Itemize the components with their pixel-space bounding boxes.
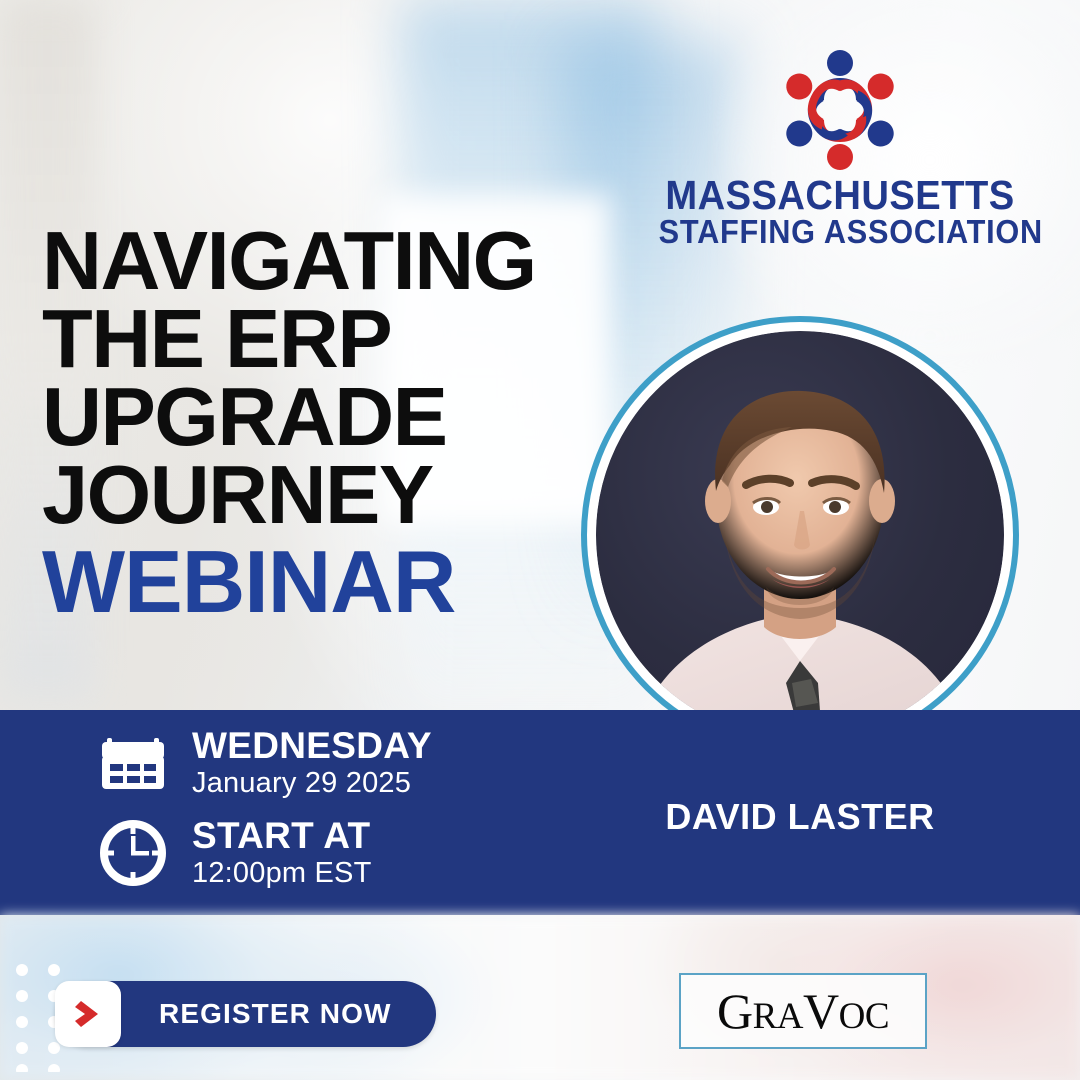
event-date-text: WEDNESDAY January 29 2025 (192, 726, 432, 800)
event-start-label: START AT (192, 816, 372, 856)
webinar-promo-poster: MASSACHUSETTS STAFFING ASSOCIATION NAVIG… (0, 0, 1080, 1080)
gravoc-logo: GRAVOC (679, 973, 927, 1049)
event-day-label: WEDNESDAY (192, 726, 432, 766)
headline-line-3: UPGRADE (42, 378, 602, 456)
massachusetts-staffing-association-logo: MASSACHUSETTS STAFFING ASSOCIATION (645, 40, 1035, 245)
event-time-row: START AT 12:00pm EST (100, 816, 372, 890)
speaker-name: DAVID LASTER (581, 796, 1019, 838)
gravoc-letter-g: G (717, 983, 753, 1039)
headline-accent-webinar: WEBINAR (42, 534, 602, 630)
portrait-ring (581, 316, 1019, 754)
event-date-label: January 29 2025 (192, 766, 432, 800)
headline-line-1: NAVIGATING (42, 222, 602, 300)
gravoc-letter-v: V (803, 983, 839, 1039)
register-now-label: REGISTER NOW (159, 998, 392, 1030)
event-date-row: WEDNESDAY January 29 2025 (100, 726, 432, 800)
association-name-line1: MASSACHUSETTS (659, 176, 1022, 215)
page-title: NAVIGATING THE ERP UPGRADE JOURNEY WEBIN… (42, 222, 602, 630)
register-now-button[interactable]: REGISTER NOW (55, 981, 436, 1047)
gravoc-wordmark: GRAVOC (717, 986, 889, 1036)
gravoc-letters-ra: RA (753, 996, 803, 1037)
clock-icon (100, 820, 166, 886)
event-time-label: 12:00pm EST (192, 856, 372, 890)
calendar-icon (100, 730, 166, 796)
association-logo-text: MASSACHUSETTS STAFFING ASSOCIATION (645, 176, 1035, 250)
headline-line-4: JOURNEY (42, 456, 602, 534)
headline-line-2: THE ERP (42, 300, 602, 378)
gravoc-letters-oc: OC (839, 996, 889, 1037)
event-time-text: START AT 12:00pm EST (192, 816, 372, 890)
association-name-line2: STAFFING ASSOCIATION (659, 215, 1022, 250)
people-circle-icon (770, 40, 910, 180)
chevron-right-icon (55, 981, 121, 1047)
speaker-avatar (581, 316, 1019, 754)
